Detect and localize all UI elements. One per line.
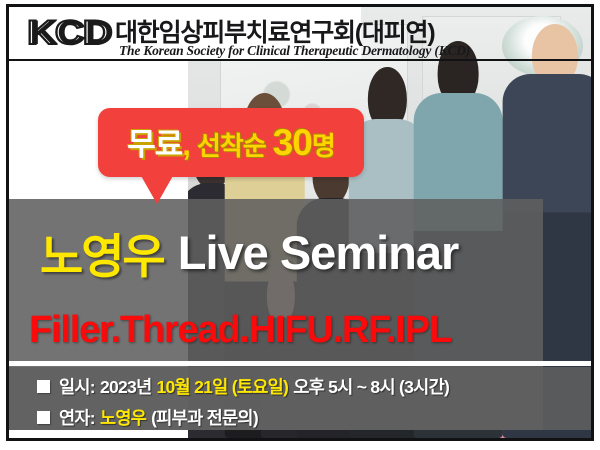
badge-count: 30 xyxy=(273,122,312,163)
seminar-poster: KCD 대한임상피부치료연구회(대피연) The Korean Society … xyxy=(0,0,600,450)
date-label: 일시: xyxy=(59,374,95,399)
info-row-date: 일시: 2023년 10월 21일 (토요일) 오후 5시 ~ 8시 (3시간) xyxy=(9,371,591,402)
poster-header: KCD 대한임상피부치료연구회(대피연) The Korean Society … xyxy=(9,7,591,59)
speaker-name-title: 노영우 xyxy=(40,218,164,287)
bullet-square-icon xyxy=(37,380,50,393)
date-time: 오후 5시 ~ 8시 (3시간) xyxy=(293,374,449,399)
badge-order-label: 선착순 xyxy=(197,131,266,161)
event-type-title: Live Seminar xyxy=(178,225,459,280)
badge-free-label: 무료 xyxy=(127,127,182,162)
date-highlight: 10월 21일 (토요일) xyxy=(156,374,288,399)
speaker-label: 연자: xyxy=(59,405,95,430)
kcd-logo-icon: KCD xyxy=(27,14,110,53)
header-divider xyxy=(9,59,591,61)
section-divider xyxy=(9,361,591,366)
info-section: 일시: 2023년 10월 21일 (토요일) 오후 5시 ~ 8시 (3시간)… xyxy=(9,371,591,433)
badge-text: 무료,선착순30명 xyxy=(127,124,335,161)
topics-text: Filler.Thread.HIFU.RF.IPL xyxy=(29,309,451,352)
bullet-square-icon xyxy=(37,411,50,424)
poster-frame: KCD 대한임상피부치료연구회(대피연) The Korean Society … xyxy=(6,4,594,441)
main-title: 노영우 Live Seminar xyxy=(9,221,591,283)
speaker-name: 노영우 xyxy=(100,405,146,430)
date-year: 2023년 xyxy=(100,374,152,399)
info-row-speaker: 연자: 노영우 (피부과 전문의) xyxy=(9,402,591,433)
organization-name-english: The Korean Society for Clinical Therapeu… xyxy=(119,43,470,59)
topics-line: Filler.Thread.HIFU.RF.IPL xyxy=(9,308,591,352)
badge-count-unit: 명 xyxy=(312,131,335,161)
badge-comma: , xyxy=(182,127,191,162)
speaker-credentials: (피부과 전문의) xyxy=(151,405,258,430)
free-seats-badge: 무료,선착순30명 xyxy=(98,108,364,177)
